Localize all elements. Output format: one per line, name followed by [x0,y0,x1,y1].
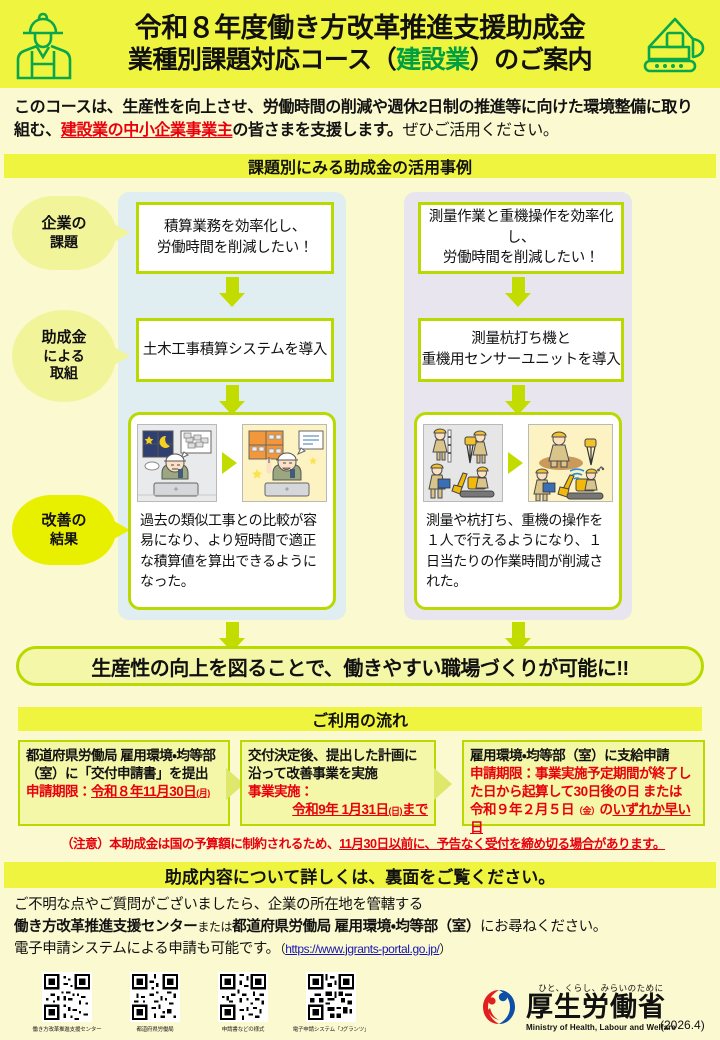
illustration-pair-left [137,422,327,504]
qr-caption-labour-bureau: 都道府県労働局 [107,1025,203,1033]
case-issue-box-left: 積算業務を効率化し、労働時間を削減したい！ [136,202,334,274]
down-arrow-right-2 [505,385,531,415]
bubble-subsidy-line2: による [43,348,85,366]
construction-worker-icon [0,5,86,83]
flow-step-2: 交付決定後、提出した計画に沿って改善事業を実施 事業実施： 令和9年 1月31日… [240,740,436,826]
intro-part-2: の皆さまを支援します。 [232,122,402,139]
flow-step-1-body: 都道府県労働局 雇用環境・均等部（室）に「交付申請書」を提出 [26,747,222,783]
budget-note: （注意）本助成金は国の予算額に制約されるため、11月30日以前に、予告なく受付を… [22,833,704,852]
down-arrow-right-1 [505,277,531,307]
contact-line-2: 働き方改革推進支援センターまたは都道府県労働局 雇用環境・均等部（室）にお尋ねく… [14,917,714,939]
budget-note-prefix: （注意）本助成金は国の予算額に制約されるため、 [61,837,339,851]
bubble-subsidy-line1: 助成金 [41,329,86,348]
bubble-issue-line1: 企業の [41,215,86,234]
flow-step-3-weekday: （金） [574,806,600,816]
bubble-result-line2: 結果 [50,531,78,549]
case-result-text-left: 過去の類似工事との比較が容易になり、より短時間で適正な積算値を算出できるようにな… [137,510,327,591]
intro-part-3: ぜひご活用ください。 [402,122,558,139]
bubble-issue-line2: 課題 [50,234,78,252]
bubble-subsidy-line3: 取組 [50,365,78,383]
flow-step-2-tail: まで [402,802,428,817]
qr-code-support-center[interactable]: 働き方改革推進支援センター [42,972,115,1033]
page-title: 令和８年度働き方改革推進支援助成金 [86,14,634,43]
flow-step-2-deadline: 令和9年 1月31日(日)まで [248,801,428,819]
qr-code-labour-bureau-image [130,972,180,1022]
case-result-box-right: 測量や杭打ち、重機の操作を１人で行えるようになり、１日当たりの作業時間が削減され… [414,412,622,610]
flow-step-1-weekday: (月) [196,788,210,798]
poster-page: 令和８年度働き方改革推進支援助成金 業種別課題対応コース（建設業）のご案内 [0,0,720,1040]
contact-or: または [197,920,232,934]
contact-line-3: 電子申請システムによる申請も可能です。（https://www.jgrants-… [14,939,714,961]
multiple-workers-surveying-illustration [423,424,503,502]
version-label: (2026.4) [660,1018,705,1032]
budget-note-underline: 11月30日以前に、予告なく受付を締め切る場合があります。 [339,837,665,851]
worker-at-night-desk-illustration [137,424,217,502]
header-title-group: 令和８年度働き方改革推進支援助成金 業種別課題対応コース（建設業）のご案内 [86,14,634,73]
flow-step-3-body: 雇用環境・均等部（室）に支給申請 [470,747,697,765]
case-action-box-right: 測量杭打ち機と重機用センサーユニットを導入 [418,318,624,382]
qr-code-jgrants[interactable]: 電子申請システム「Jグランツ」 [306,972,379,1033]
flow-step-3-detail-b: の [600,802,613,817]
case-result-text-right: 測量や杭打ち、重機の操作を１人で行えるようになり、１日当たりの作業時間が削減され… [423,510,613,591]
illustration-pair-right [423,422,613,504]
flow-step-2-date: 令和9年 1月31日 [292,802,388,817]
qr-code-support-center-image [42,972,92,1022]
down-arrow-left-2 [219,385,245,415]
subtitle-part-c: ）のご案内 [470,46,593,74]
ministry-name: 厚生労働省 [526,994,676,1021]
bubble-result-line1: 改善の [41,512,86,531]
right-arrow-right-case [508,452,523,474]
bubble-company-issue: 企業の 課題 [12,196,116,270]
flow-step-3-label: 申請期限： [470,766,535,781]
poster-header: 令和８年度働き方改革推進支援助成金 業種別課題対応コース（建設業）のご案内 [0,0,720,88]
contact-eapp-text: 電子申請システムによる申請も可能です。 [14,941,280,957]
qr-caption-jgrants: 電子申請システム「Jグランツ」 [283,1025,379,1033]
contact-block: ご不明な点やご質問がございましたら、企業の所在地を管轄する 働き方改革推進支援セ… [14,895,714,960]
ministry-logo: ひと、くらし、みらいのために 厚生労働省 Ministry of Health,… [478,982,678,1030]
excavator-icon [634,5,720,83]
flow-step-1-date: 令和８年11月30日 [91,784,196,799]
flow-step-1-deadline: 申請期限：令和８年11月30日(月) [26,783,222,801]
flow-step-1-label: 申請期限： [26,784,91,799]
ministry-name-english: Ministry of Health, Labour and Welfare [526,1023,676,1032]
subtitle-part-a: 業種別課題対応コース（ [128,46,396,74]
bubble-subsidy-action: 助成金 による 取組 [12,310,116,402]
contact-support-center: 働き方改革推進支援センター [14,919,197,935]
flow-step-2-body: 交付決定後、提出した計画に沿って改善事業を実施 [248,747,428,783]
qr-code-application-forms[interactable]: 申請書などの様式 [218,972,291,1033]
flow-arrow-2 [434,768,452,800]
case-action-box-left: 土木工事積算システムを導入 [136,318,334,382]
intro-highlight: 建設業の中小企業事業主 [61,122,233,139]
mhlw-symbol-icon [478,986,520,1028]
case-result-box-left: 過去の類似工事との比較が容易になり、より短時間で適正な積算値を算出できるようにな… [128,412,336,610]
flow-step-3: 雇用環境・均等部（室）に支給申請 申請期限：事業実施予定期間が終了した日から起算… [462,740,705,826]
qr-code-jgrants-image [306,972,356,1022]
down-arrow-left-1 [219,277,245,307]
section-bar-cases: 課題別にみる助成金の活用事例 [4,154,716,178]
flow-step-1: 都道府県労働局 雇用環境・均等部（室）に「交付申請書」を提出 申請期限：令和８年… [18,740,230,826]
section-bar-backside: 助成内容について詳しくは、裏面をご覧ください。 [4,862,716,888]
flow-step-3-deadline: 申請期限：事業実施予定期間が終了した日から起算して30日後の日 または 令和９年… [470,765,697,837]
contact-labour-bureau: 都道府県労働局 雇用環境・均等部（室） [232,919,480,935]
qr-code-application-forms-image [218,972,268,1022]
qr-caption-support-center: 働き方改革推進支援センター [19,1025,115,1033]
case-issue-box-right: 測量作業と重機操作を効率化し、労働時間を削減したい！ [418,202,624,274]
contact-line2-tail: にお尋ねください。 [480,919,607,935]
flow-step-2-label: 事業実施： [248,783,428,801]
qr-caption-application-forms: 申請書などの様式 [195,1025,291,1033]
right-arrow-left-case [222,452,237,474]
single-worker-smart-machinery-illustration [528,424,613,502]
intro-paragraph: このコースは、生産性を向上させ、労働時間の削減や週休2日制の推進等に向けた環境整… [14,96,708,142]
contact-url-close: ） [439,942,451,956]
section-bar-flow: ご利用の流れ [18,707,702,731]
bubble-improvement-result: 改善の 結果 [12,495,116,565]
contact-line-1: ご不明な点やご質問がございましたら、企業の所在地を管轄する [14,895,714,917]
conclusion-banner: 生産性の向上を図ることで、働きやすい職場づくりが可能に!! [16,646,704,686]
qr-code-labour-bureau[interactable]: 都道府県労働局 [130,972,203,1033]
jgrants-link[interactable]: https://www.jgrants-portal.go.jp/ [285,942,439,956]
flow-step-2-weekday: (日) [389,806,403,816]
worker-daytime-happy-desk-illustration [242,424,327,502]
subtitle-industry: 建設業 [396,46,470,74]
page-subtitle: 業種別課題対応コース（建設業）のご案内 [86,47,634,74]
